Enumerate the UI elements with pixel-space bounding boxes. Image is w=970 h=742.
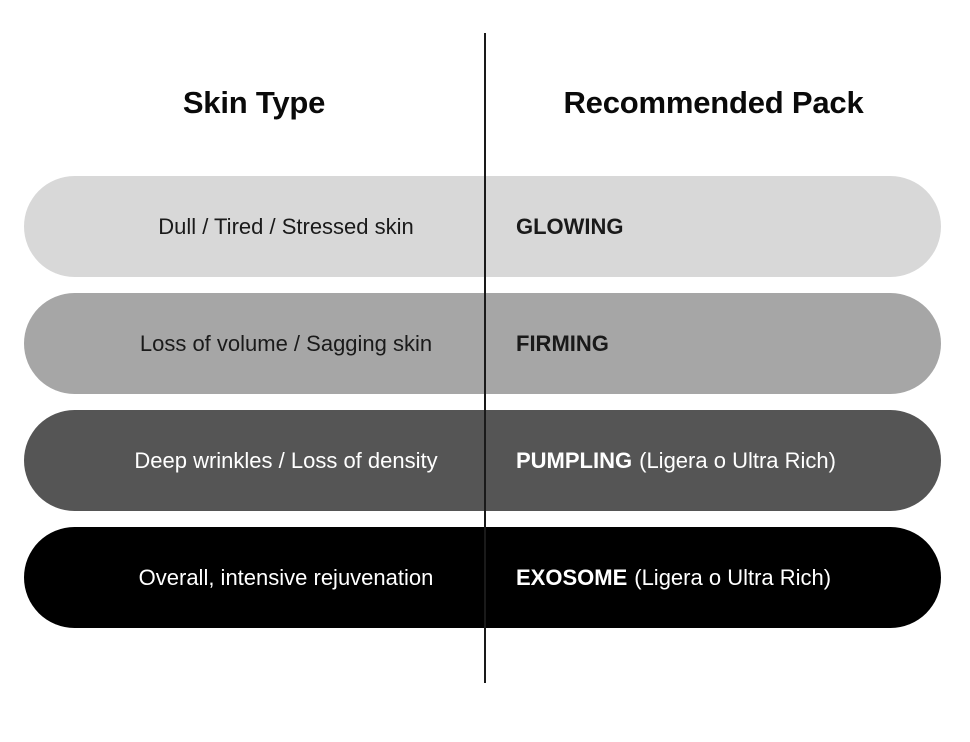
cell-recommended-pack: EXOSOME(Ligera o Ultra Rich) [516,527,831,628]
cell-recommended-pack: GLOWING [516,176,624,277]
cell-skin-type: Overall, intensive rejuvenation [88,527,484,628]
skin-type-recommendation-table: Skin Type Recommended Pack Dull / Tired … [0,0,970,742]
table-row: Deep wrinkles / Loss of densityPUMPLING(… [24,410,941,511]
cell-recommended-pack: PUMPLING(Ligera o Ultra Rich) [516,410,836,511]
cell-skin-type: Loss of volume / Sagging skin [88,293,484,394]
cell-skin-type: Dull / Tired / Stressed skin [88,176,484,277]
pack-name-label: EXOSOME [516,565,627,591]
pack-name-label: GLOWING [516,214,624,240]
pack-name-label: FIRMING [516,331,609,357]
pack-name-label: PUMPLING [516,448,632,474]
cell-recommended-pack: FIRMING [516,293,609,394]
pack-variant-note: (Ligera o Ultra Rich) [639,448,836,474]
cell-skin-type: Deep wrinkles / Loss of density [88,410,484,511]
table-row: Dull / Tired / Stressed skinGLOWING [24,176,941,277]
table-row: Loss of volume / Sagging skinFIRMING [24,293,941,394]
column-divider-line [484,33,486,683]
table-row: Overall, intensive rejuvenationEXOSOME(L… [24,527,941,628]
pack-variant-note: (Ligera o Ultra Rich) [634,565,831,591]
